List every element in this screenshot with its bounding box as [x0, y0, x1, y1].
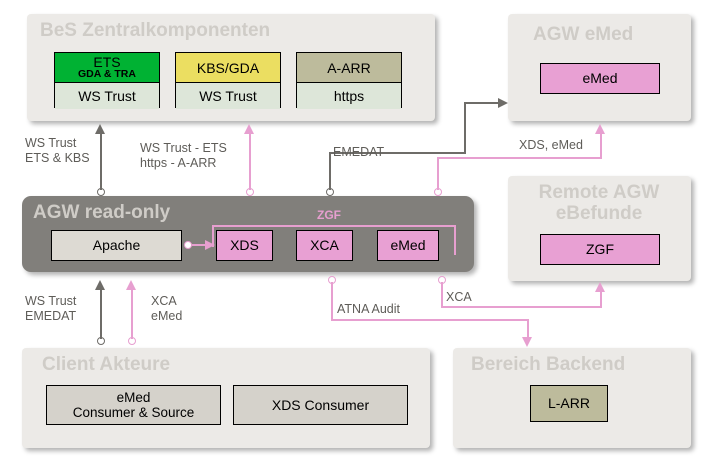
edge-label-emedat: EMEDAT — [333, 145, 384, 160]
component-ets-name: ETS — [93, 55, 120, 69]
line-xca-riser — [600, 290, 602, 308]
edge-label-ws-trust-https: WS Trust - ETS https - A-ARR — [140, 141, 227, 171]
component-xca[interactable]: XCA — [296, 230, 353, 261]
arrow-xds-emed — [595, 124, 605, 134]
edge-label-ws-trust-emedat: WS Trust EMEDAT — [25, 294, 76, 324]
arrow-atna-audit — [522, 337, 532, 347]
zgf-bracket-top-line — [212, 225, 456, 227]
component-apache[interactable]: Apache — [51, 230, 182, 261]
zgf-bracket-label: ZGF — [317, 208, 341, 222]
component-xds[interactable]: XDS — [216, 230, 273, 261]
arrow-xca-emed — [126, 280, 136, 290]
component-kbs-gda-header: KBS/GDA — [176, 53, 280, 83]
component-ets-header: ETS GDA & TRA — [55, 53, 159, 83]
line-apache-to-xds — [192, 244, 206, 246]
line-emedat-vertical — [329, 152, 331, 190]
component-kbs-gda-name: KBS/GDA — [197, 61, 259, 75]
group-title-agw-readonly: AGW read-only — [33, 202, 170, 224]
arrow-apache-to-xds — [205, 240, 215, 250]
line-emedat-into-emed — [464, 102, 500, 104]
arrow-ws-trust-https — [244, 124, 254, 134]
group-title-client: Client Akteure — [42, 354, 170, 375]
component-a-arr-name: A-ARR — [327, 61, 371, 75]
edge-label-xds-emed: XDS, eMed — [519, 138, 583, 153]
arrow-emedat — [498, 98, 508, 108]
component-kbs-gda[interactable]: KBS/GDA WS Trust — [175, 52, 281, 108]
edge-label-xca: XCA — [446, 290, 472, 305]
line-xca-vertical — [441, 282, 443, 308]
group-title-backend: Bereich Backend — [471, 354, 625, 375]
zgf-bracket-right-drop — [454, 225, 456, 255]
edge-label-xca-emed: XCA eMed — [151, 294, 182, 324]
component-ets-protocol: WS Trust — [55, 83, 159, 109]
group-title-bes: BeS Zentralkomponenten — [40, 20, 270, 41]
component-a-arr[interactable]: A-ARR https — [296, 52, 402, 108]
component-agw-readonly-emed[interactable]: eMed — [377, 230, 439, 261]
arrow-ws-trust-ets-kbs — [95, 124, 105, 134]
line-atna-audit-horizontal — [331, 319, 529, 321]
line-xds-emed-horizontal — [437, 157, 602, 159]
line-xds-emed-riser — [600, 132, 602, 159]
component-l-arr[interactable]: L-ARR — [530, 385, 608, 422]
line-xca-emed — [131, 288, 133, 339]
port-apache-out — [184, 241, 192, 249]
group-title-agw-emed: AGW eMed — [533, 24, 633, 45]
component-remote-zgf[interactable]: ZGF — [540, 234, 660, 265]
component-emed-consumer-source[interactable]: eMed Consumer & Source — [46, 385, 221, 425]
component-a-arr-protocol: https — [297, 83, 401, 109]
line-xca-horizontal — [441, 306, 602, 308]
component-ets-sub: GDA & TRA — [78, 69, 136, 80]
group-title-remote-agw: Remote AGW eBefunde — [524, 182, 674, 224]
component-ets[interactable]: ETS GDA & TRA WS Trust — [54, 52, 160, 108]
component-xds-consumer[interactable]: XDS Consumer — [233, 385, 408, 425]
component-kbs-gda-protocol: WS Trust — [176, 83, 280, 109]
line-atna-audit-drop — [527, 319, 529, 339]
component-agw-emed[interactable]: eMed — [540, 63, 660, 94]
line-xds-emed-vertical — [437, 157, 439, 190]
arrow-xca — [595, 282, 605, 292]
line-ws-trust-https — [249, 132, 251, 190]
architecture-diagram: BeS Zentralkomponenten ETS GDA & TRA WS … — [0, 0, 703, 460]
arrow-ws-trust-emedat — [95, 280, 105, 290]
edge-label-atna-audit: ATNA Audit — [337, 302, 400, 317]
component-a-arr-header: A-ARR — [297, 53, 401, 83]
line-ws-trust-emedat — [100, 288, 102, 339]
line-ws-trust-ets-kbs — [100, 132, 102, 190]
line-atna-audit-vertical — [331, 282, 333, 321]
line-emedat-riser — [464, 102, 466, 154]
edge-label-ws-trust-ets-kbs: WS Trust ETS & KBS — [25, 136, 90, 166]
